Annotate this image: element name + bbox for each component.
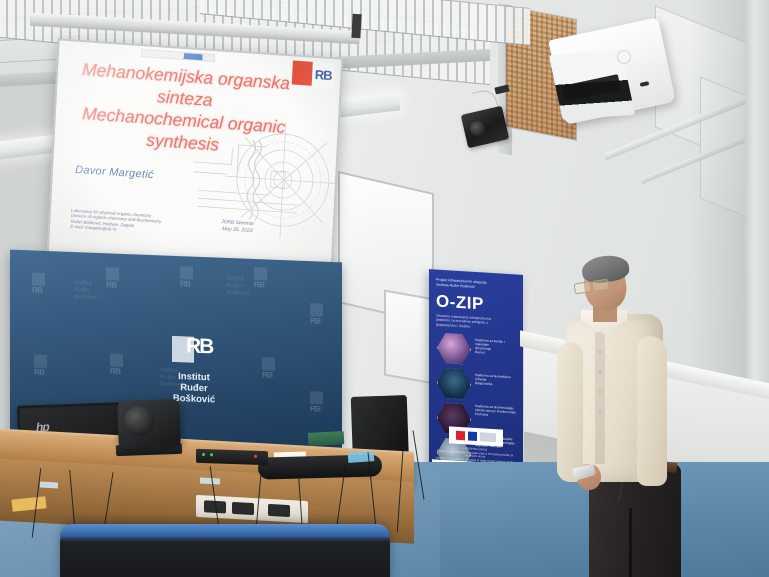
projection-screen: RB [47,38,343,273]
office-chair-top-edge [60,524,390,537]
banner-subtitle: Otvorena znanstvena infrastrukturna plat… [436,314,514,332]
backdrop-institute-logo: RB Institut Ruđer Bošković [152,333,236,406]
backdrop-watermark: RB [32,272,45,294]
trouser-seam [629,508,632,577]
banner-top-text: Projekt infrastrukturnih ulaganja Instit… [436,278,512,292]
backdrop-watermark: RB [106,267,119,289]
presenter-left-sleeve [557,342,583,482]
partner-logo-icon [480,432,496,442]
backdrop-watermark: RB [254,267,267,289]
lecture-room-photo: RB [0,0,769,577]
presentation-slide: RB [49,41,341,272]
backdrop-text-block: InstitutRuđerBošković [74,280,98,302]
green-notebook [308,431,345,446]
backdrop-watermark: RB [262,357,275,379]
backdrop-watermark: RB [110,353,123,375]
presenter [551,258,679,577]
slide-vignette [49,41,341,272]
banner-logo-text: O-ZIP [436,292,484,315]
hex-image-biomedicine [437,367,471,401]
desk-label [40,482,58,489]
banner-bullet: Platforma za kemiju i materijaleIstraživ… [475,338,519,357]
camera-lens-icon [124,406,154,436]
backdrop-watermark: RB [180,266,193,288]
banner-inner-logo-strip [449,426,503,446]
backdrop-watermark: RB [34,355,47,377]
backdrop-watermark: RB [310,303,323,325]
banner-bullet: Platforma za biomedicinuZdravljeDijagnos… [475,373,519,388]
hex-image-chemistry [437,332,471,366]
projection-screen-bracket [351,14,361,38]
desk-label [200,477,220,484]
blue-note [348,451,375,463]
presenter-ear [613,280,622,292]
backdrop-logo-mark: RB [172,334,216,368]
backdrop-watermark: RB [310,391,323,413]
network-switch[interactable] [196,449,268,466]
presenter-right-sleeve [637,336,667,486]
croatia-flag-icon [456,431,465,441]
eu-flag-icon [468,432,477,442]
ozip-rollup-banner: Projekt infrastrukturnih ulaganja Instit… [429,269,523,491]
backdrop-text-block: InstitutRuđerBošković [226,276,250,298]
banner-bullet: Platforma za biotehnologijuOdrživi razvo… [475,404,519,419]
